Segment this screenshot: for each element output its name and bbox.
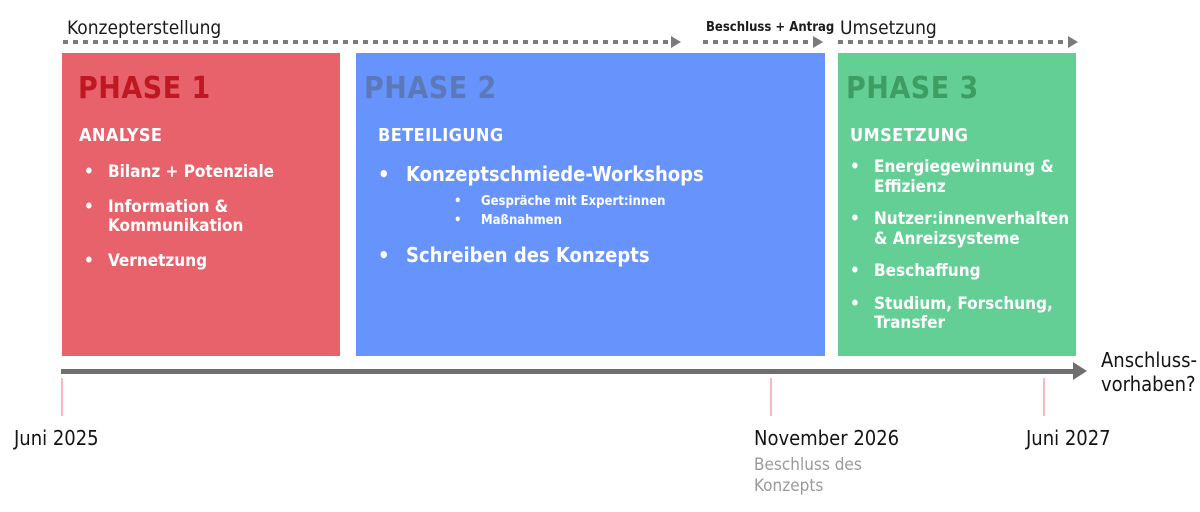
track-label-umsetzung: Umsetzung	[840, 17, 937, 39]
phase-2-sub-bullet-list: • Gespräche mit Expert:innen • Maßnahmen	[454, 193, 818, 231]
bullet-icon: •	[454, 212, 461, 231]
list-item: • Energiegewinnung & Effizienz	[850, 158, 1076, 197]
arrow-head-beschluss-antrag	[813, 36, 823, 48]
bullet-icon: •	[850, 210, 860, 230]
bullet-text: Energiegewinnung & Effizienz	[874, 157, 1054, 197]
arrow-head-konzepterstellung	[671, 36, 681, 48]
bullet-text: Nutzer:innenverhalten & Anreizsysteme	[874, 209, 1069, 249]
phase-1-subtitle: ANALYSE	[79, 126, 162, 146]
list-item: • Studium, Forschung, Transfer	[850, 295, 1076, 334]
phase-1-title: PHASE 1	[78, 74, 211, 104]
timeline-axis	[61, 369, 1073, 374]
track-label-konzepterstellung: Konzepterstellung	[67, 17, 221, 39]
timeline-tick-juni-2027	[1043, 378, 1045, 416]
timeline-date-juni-2025: Juni 2025	[14, 426, 99, 450]
list-item: • Konzeptschmiede-Workshops • Gespräche …	[378, 163, 818, 231]
bullet-text: Information & Kommunikation	[108, 197, 243, 237]
phase-3-bullet-list: • Energiegewinnung & Effizienz • Nutzer:…	[850, 158, 1076, 334]
list-item: • Vernetzung	[84, 252, 334, 272]
list-item: • Beschaffung	[850, 262, 1076, 282]
timeline-end-label: Anschluss- vorhaben?	[1101, 348, 1197, 396]
list-item: • Schreiben des Konzepts	[378, 244, 818, 267]
bullet-text: Vernetzung	[108, 251, 207, 271]
sub-list-item: • Maßnahmen	[454, 212, 818, 231]
bullet-icon: •	[850, 295, 860, 315]
dotted-line-konzepterstellung	[63, 40, 673, 44]
dotted-line-umsetzung	[838, 40, 1070, 44]
list-item: • Bilanz + Potenziale	[84, 163, 334, 183]
phase-3-title: PHASE 3	[846, 74, 979, 104]
arrow-head-umsetzung	[1068, 36, 1078, 48]
bullet-text: Beschaffung	[874, 261, 981, 281]
phase-box-3[interactable]: PHASE 3 UMSETZUNG • Energiegewinnung & E…	[838, 53, 1076, 356]
timeline-axis-arrow	[1073, 362, 1087, 380]
bullet-text: Konzeptschmiede-Workshops	[406, 162, 704, 186]
bullet-icon: •	[84, 163, 94, 183]
sub-bullet-text: Maßnahmen	[481, 213, 562, 228]
phase-2-subtitle: BETEILIGUNG	[378, 126, 504, 146]
bullet-icon: •	[378, 163, 390, 186]
timeline-date-juni-2027: Juni 2027	[1026, 426, 1111, 450]
bullet-icon: •	[850, 158, 860, 178]
phase-box-1[interactable]: PHASE 1 ANALYSE • Bilanz + Potenziale • …	[62, 53, 340, 356]
phase-3-subtitle: UMSETZUNG	[850, 126, 968, 146]
bullet-text: Schreiben des Konzepts	[406, 243, 650, 267]
bullet-text: Bilanz + Potenziale	[108, 162, 274, 182]
phase-box-2[interactable]: PHASE 2 BETEILIGUNG • Konzeptschmiede-Wo…	[356, 53, 825, 356]
dotted-line-beschluss-antrag	[703, 40, 815, 44]
sub-list-item: • Gespräche mit Expert:innen	[454, 193, 818, 212]
list-item: • Information & Kommunikation	[84, 198, 334, 237]
bullet-text: Studium, Forschung, Transfer	[874, 294, 1053, 334]
list-item: • Nutzer:innenverhalten & Anreizsysteme	[850, 210, 1076, 249]
phase-1-bullet-list: • Bilanz + Potenziale • Information & Ko…	[84, 163, 334, 271]
timeline-note-november-2026: Beschluss des Konzepts	[754, 455, 862, 498]
timeline-tick-november-2026	[770, 378, 772, 416]
timeline-date-november-2026: November 2026	[754, 426, 899, 450]
bullet-icon: •	[84, 252, 94, 272]
bullet-icon: •	[378, 244, 390, 267]
bullet-icon: •	[850, 262, 860, 282]
bullet-icon: •	[84, 198, 94, 218]
phase-2-bullet-list: • Konzeptschmiede-Workshops • Gespräche …	[378, 163, 818, 267]
track-label-beschluss-antrag: Beschluss + Antrag	[706, 20, 834, 35]
bullet-icon: •	[454, 193, 461, 212]
timeline-tick-juni-2025	[61, 378, 63, 416]
phase-2-title: PHASE 2	[364, 74, 497, 104]
sub-bullet-text: Gespräche mit Expert:innen	[481, 194, 665, 209]
timeline-diagram: Konzepterstellung Beschluss + Antrag Ums…	[0, 0, 1200, 512]
